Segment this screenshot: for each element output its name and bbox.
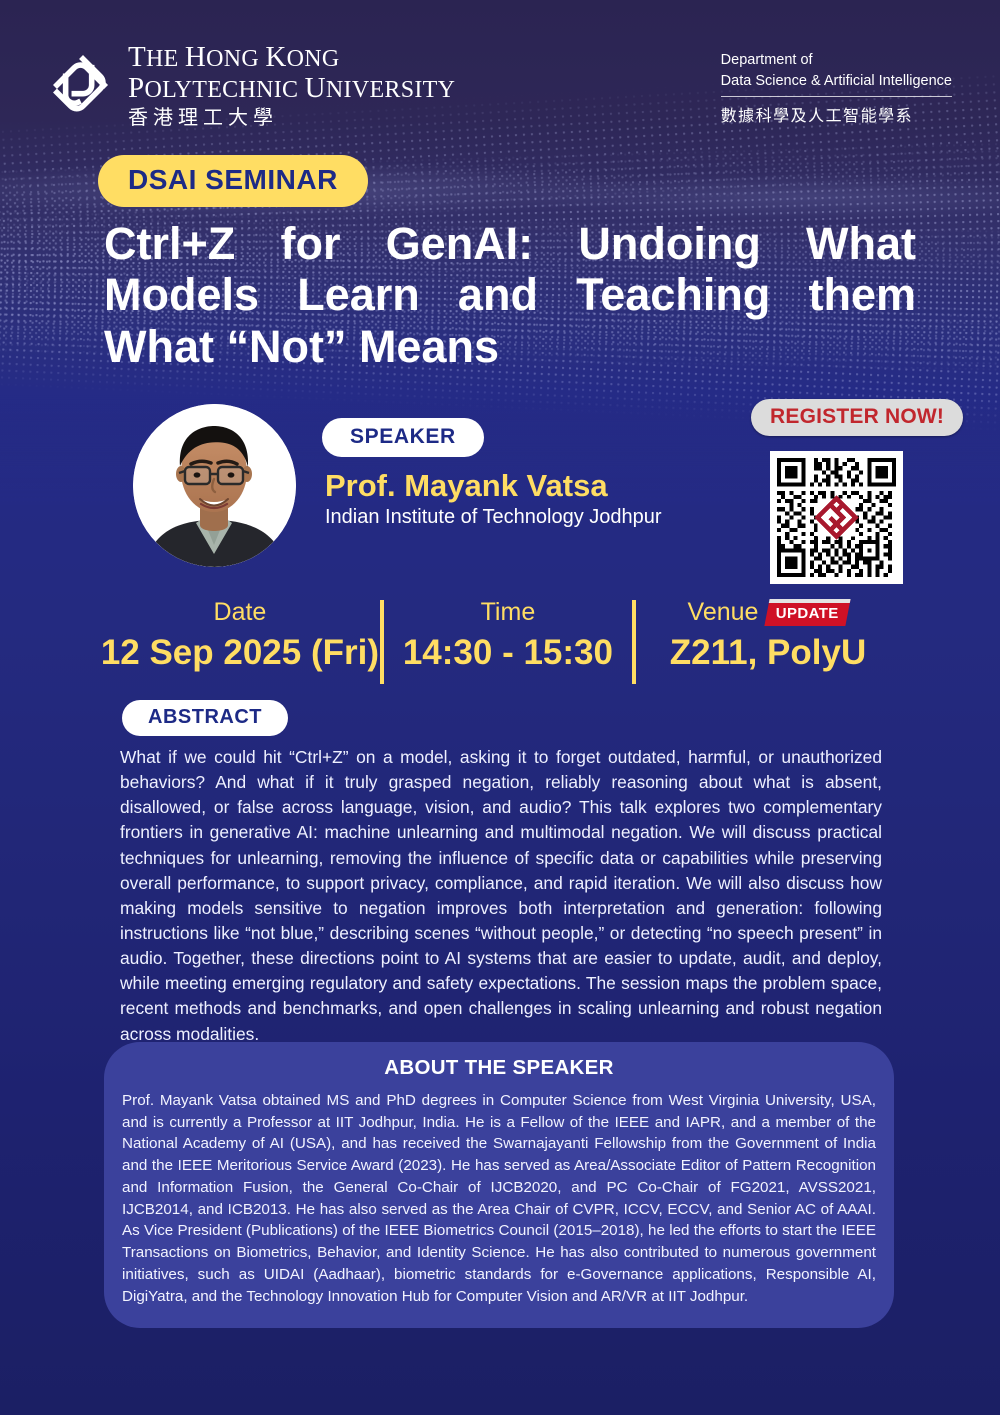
abstract-text: What if we could hit “Ctrl+Z” on a model… bbox=[120, 745, 882, 1047]
poster-header: THE HONG KONG POLYTECHNIC UNIVERSITY 香港理… bbox=[0, 0, 1000, 130]
polyu-knot-logo-icon bbox=[52, 54, 114, 116]
event-date: Date 12 Sep 2025 (Fri) bbox=[100, 596, 380, 686]
register-now-button[interactable]: REGISTER NOW! bbox=[751, 399, 963, 436]
department-chinese: 數據科學及人工智能學系 bbox=[721, 102, 952, 126]
university-name-line1: THE HONG KONG bbox=[128, 42, 455, 73]
title-line-2: Models Learn and Teaching them bbox=[104, 269, 916, 320]
speaker-photo bbox=[133, 404, 296, 567]
venue-value: Z211, PolyU bbox=[670, 633, 866, 673]
speaker-affiliation: Indian Institute of Technology Jodhpur bbox=[325, 506, 662, 529]
registration-qr-code[interactable] bbox=[770, 451, 903, 584]
venue-label-group: Venue UPDATE bbox=[688, 598, 849, 627]
department-line1: Department of bbox=[721, 50, 952, 71]
seminar-title: Ctrl+Z for GenAI: Undoing What Models Le… bbox=[104, 218, 916, 372]
department-divider bbox=[721, 96, 952, 97]
about-speaker-title: ABOUT THE SPEAKER bbox=[104, 1056, 894, 1080]
about-speaker-text: Prof. Mayank Vatsa obtained MS and PhD d… bbox=[122, 1090, 876, 1307]
speaker-name: Prof. Mayank Vatsa bbox=[325, 468, 608, 504]
date-label: Date bbox=[214, 598, 267, 627]
event-time: Time 14:30 - 15:30 bbox=[384, 596, 632, 686]
department-branding: Department of Data Science & Artificial … bbox=[721, 50, 952, 126]
time-value: 14:30 - 15:30 bbox=[403, 633, 613, 673]
event-venue: Venue UPDATE Z211, PolyU bbox=[636, 596, 900, 686]
university-name-line2: POLYTECHNIC UNIVERSITY bbox=[128, 73, 455, 104]
time-label: Time bbox=[481, 598, 536, 627]
speaker-pill-label: SPEAKER bbox=[322, 418, 484, 457]
seminar-poster: THE HONG KONG POLYTECHNIC UNIVERSITY 香港理… bbox=[0, 0, 1000, 1415]
event-details-row: Date 12 Sep 2025 (Fri) Time 14:30 - 15:3… bbox=[100, 596, 900, 686]
title-line-1: Ctrl+Z for GenAI: Undoing What bbox=[104, 218, 916, 269]
seminar-type-badge: DSAI SEMINAR bbox=[98, 155, 368, 207]
abstract-pill-label: ABSTRACT bbox=[122, 700, 288, 736]
title-line-3: What “Not” Means bbox=[104, 321, 916, 372]
university-name-chinese: 香港理工大學 bbox=[128, 107, 455, 129]
venue-update-badge: UPDATE bbox=[765, 599, 851, 626]
venue-label: Venue bbox=[688, 598, 759, 627]
venue-update-badge-text: UPDATE bbox=[776, 606, 839, 622]
about-speaker-panel: ABOUT THE SPEAKER Prof. Mayank Vatsa obt… bbox=[104, 1042, 894, 1328]
department-line2: Data Science & Artificial Intelligence bbox=[721, 71, 952, 92]
date-value: 12 Sep 2025 (Fri) bbox=[101, 633, 379, 673]
polyu-branding: THE HONG KONG POLYTECHNIC UNIVERSITY 香港理… bbox=[52, 42, 455, 128]
